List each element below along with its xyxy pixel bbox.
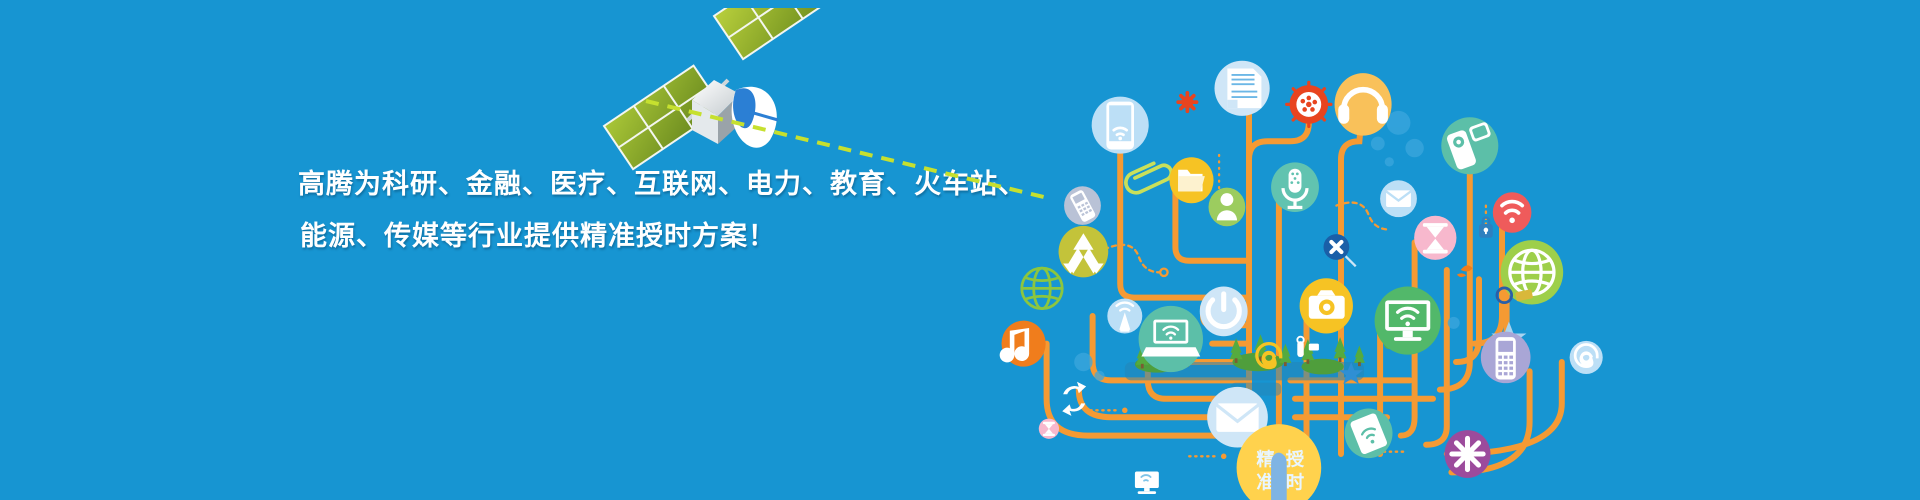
gear-red-icon[interactable] — [1178, 93, 1196, 111]
at-sign-icon[interactable] — [1570, 341, 1603, 374]
hourglass-small-icon[interactable] — [1039, 419, 1059, 439]
antenna-icon[interactable] — [1107, 299, 1142, 334]
folder-icon[interactable] — [1169, 157, 1213, 203]
document-icon[interactable] — [1215, 61, 1270, 116]
film-reel-icon[interactable] — [1287, 82, 1331, 126]
badge-char-4: 时 — [1286, 472, 1305, 493]
user-icon[interactable] — [1209, 188, 1246, 227]
promo-banner: 高腾为科研、金融、医疗、互联网、电力、教育、火车站、 能源、传媒等行业提供精准授… — [0, 0, 1920, 500]
recycle-icon[interactable] — [1059, 226, 1109, 278]
smartphone-wifi-icon[interactable] — [1092, 97, 1149, 154]
camcorder-icon[interactable] — [1441, 117, 1499, 174]
lock-icon[interactable] — [1479, 218, 1493, 238]
mail-small-icon[interactable] — [1380, 180, 1417, 217]
microphone-icon[interactable] — [1271, 162, 1319, 212]
icon-network-tree: 精 授 准 时 — [905, 40, 1685, 500]
tablet-wifi-icon[interactable] — [1345, 408, 1393, 458]
camera-icon[interactable] — [1300, 278, 1353, 333]
wifi-red-icon[interactable] — [1493, 192, 1532, 232]
phone-grey-icon[interactable] — [1064, 186, 1101, 225]
hourglass-icon[interactable] — [1414, 216, 1456, 260]
music-note-icon[interactable] — [1000, 321, 1046, 367]
paperclip-icon[interactable] — [1126, 163, 1171, 193]
feature-phone-icon[interactable] — [1481, 332, 1531, 384]
globe-wire-icon[interactable] — [1022, 268, 1062, 308]
power-icon[interactable] — [1200, 287, 1248, 337]
badge-char-2: 授 — [1286, 449, 1305, 470]
laptop-wifi-icon[interactable] — [1139, 306, 1203, 372]
asterisk-icon[interactable] — [1445, 430, 1491, 478]
satellite-icon — [596, 8, 836, 198]
tv-small-icon[interactable] — [1135, 471, 1159, 494]
monitor-wifi-icon[interactable] — [1375, 287, 1441, 355]
headphones-icon[interactable] — [1335, 73, 1392, 136]
